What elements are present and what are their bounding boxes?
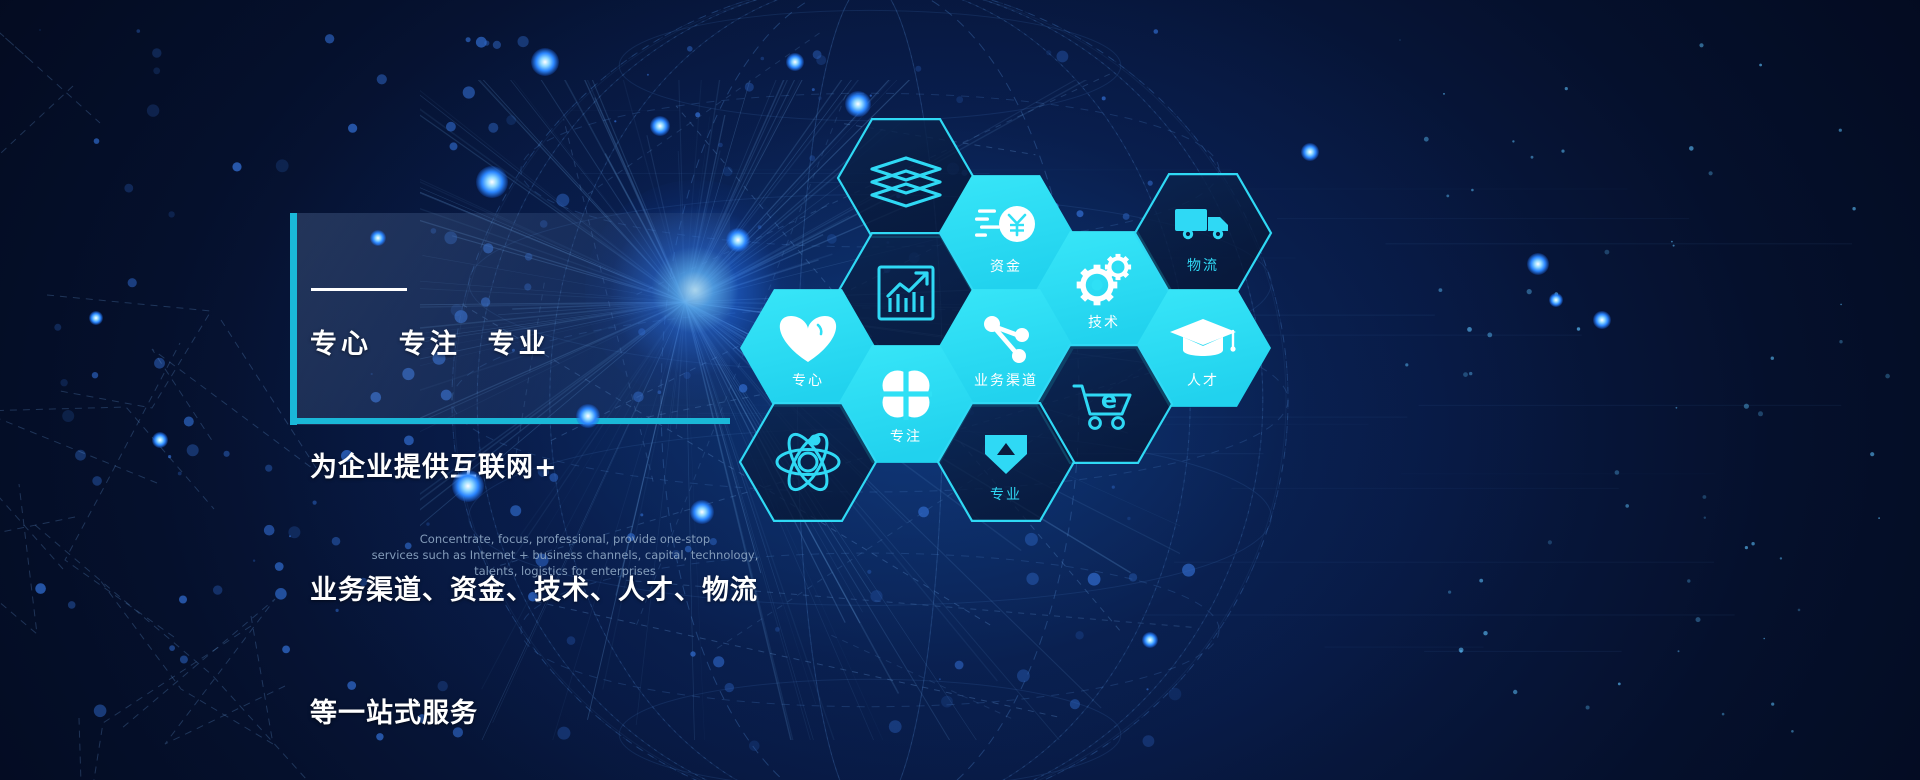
banner-stage: 专心 专注 专业 为企业提供互联网+ 业务渠道、资金、技术、人才、物流 等一站式… (0, 0, 1920, 780)
svg-text:e: e (1101, 386, 1117, 414)
hexagon-cluster: e (0, 0, 1920, 780)
clover-icon (880, 368, 932, 420)
